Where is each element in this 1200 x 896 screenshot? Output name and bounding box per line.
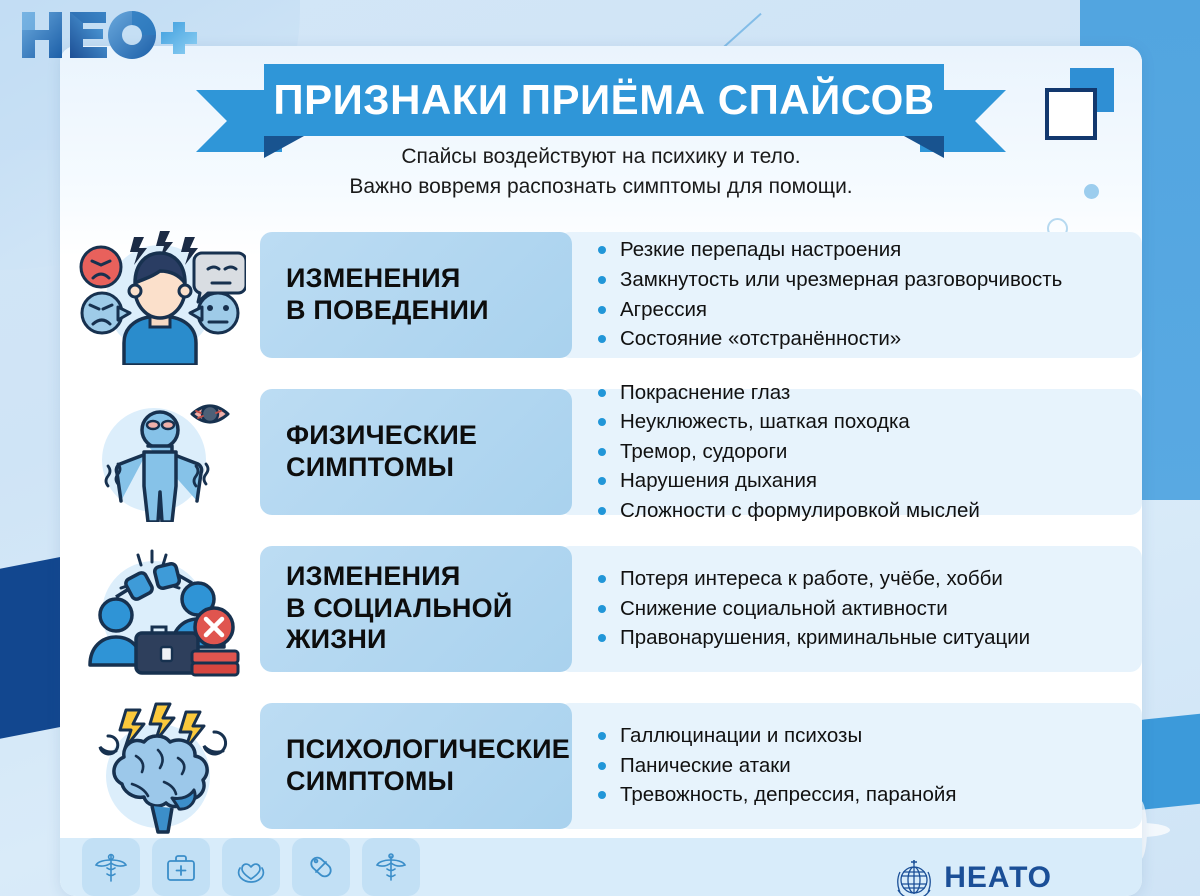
section-title-panel: ИЗМЕНЕНИЯ В ПОВЕДЕНИИ xyxy=(260,232,572,358)
list-item: Состояние «отстранённости» xyxy=(598,324,1122,354)
list-item: Неуклюжесть, шаткая походка xyxy=(598,407,1122,437)
section-items-panel: Резкие перепады настроения Замкнутость и… xyxy=(558,232,1142,358)
section-social-life-changes: ИЗМЕНЕНИЯ В СОЦИАЛЬНОЙ ЖИЗНИ Потеря инте… xyxy=(60,536,1142,681)
angry-person-mood-swings-icon xyxy=(60,225,260,365)
section-body: ФИЗИЧЕСКИЕ СИМПТОМЫ Покраснение глаз Неу… xyxy=(260,389,1142,515)
subtitle-line-2: Важно вовремя распознать симптомы для по… xyxy=(60,172,1142,202)
capsule-pill-icon xyxy=(292,838,350,896)
section-title: ПСИХОЛОГИЧЕСКИЕ СИМПТОМЫ xyxy=(286,734,570,798)
list-item: Замкнутость или чрезмерная разговорчивос… xyxy=(598,265,1122,295)
caduceus-icon xyxy=(82,838,140,896)
list-item: Агрессия xyxy=(598,295,1122,325)
caduceus-wings-icon xyxy=(362,838,420,896)
section-title-panel: ИЗМЕНЕНИЯ В СОЦИАЛЬНОЙ ЖИЗНИ xyxy=(260,546,572,672)
section-title: ФИЗИЧЕСКИЕ СИМПТОМЫ xyxy=(286,420,477,484)
section-psychological-symptoms: ПСИХОЛОГИЧЕСКИЕ СИМПТОМЫ Галлюцинации и … xyxy=(60,693,1142,838)
list-item: Снижение социальной активности xyxy=(598,594,1122,624)
section-body: ИЗМЕНЕНИЯ В ПОВЕДЕНИИ Резкие перепады на… xyxy=(260,232,1142,358)
first-aid-kit-icon xyxy=(152,838,210,896)
who-globe-emblem xyxy=(892,856,936,896)
list-item: Потеря интереса к работе, учёбе, хобби xyxy=(598,564,1122,594)
organization-brand: НЕАТО xyxy=(892,856,1052,896)
section-items-panel: Покраснение глаз Неуклюжесть, шаткая пох… xyxy=(558,389,1142,515)
page-title: ПРИЗНАКИ ПРИЁМА СПАЙСОВ xyxy=(273,76,934,124)
section-title-line-2: СИМПТОМЫ xyxy=(286,766,454,796)
list-item: Резкие перепады настроения xyxy=(598,235,1122,265)
broken-social-connection-icon xyxy=(60,539,260,679)
infographic-card: ПРИЗНАКИ ПРИЁМА СПАЙСОВ Спайсы воздейств… xyxy=(60,46,1142,896)
organization-name: НЕАТО xyxy=(944,861,1052,895)
section-title-line-3: ЖИЗНИ xyxy=(286,624,387,654)
section-title: ИЗМЕНЕНИЯ В ПОВЕДЕНИИ xyxy=(286,263,489,327)
section-items-panel: Потеря интереса к работе, учёбе, хобби С… xyxy=(558,546,1142,672)
trembling-body-red-eye-icon xyxy=(60,382,260,522)
list-item: Нарушения дыхания xyxy=(598,466,1122,496)
sections-list: ИЗМЕНЕНИЯ В ПОВЕДЕНИИ Резкие перепады на… xyxy=(60,222,1142,850)
decor-square-outline xyxy=(1045,88,1097,140)
ribbon-banner: ПРИЗНАКИ ПРИЁМА СПАЙСОВ xyxy=(264,64,944,136)
section-title-line-1: ИЗМЕНЕНИЯ xyxy=(286,263,460,293)
section-body: ПСИХОЛОГИЧЕСКИЕ СИМПТОМЫ Галлюцинации и … xyxy=(260,703,1142,829)
brain-lightning-icon xyxy=(60,696,260,836)
list-item: Тремор, судороги xyxy=(598,437,1122,467)
section-title-line-1: ФИЗИЧЕСКИЕ xyxy=(286,420,477,450)
section-body: ИЗМЕНЕНИЯ В СОЦИАЛЬНОЙ ЖИЗНИ Потеря инте… xyxy=(260,546,1142,672)
list-item: Панические атаки xyxy=(598,751,1122,781)
section-title-panel: ПСИХОЛОГИЧЕСКИЕ СИМПТОМЫ xyxy=(260,703,572,829)
section-title-line-2: В СОЦИАЛЬНОЙ xyxy=(286,593,512,623)
section-behavior-changes: ИЗМЕНЕНИЯ В ПОВЕДЕНИИ Резкие перепады на… xyxy=(60,222,1142,367)
section-title-line-1: ПСИХОЛОГИЧЕСКИЕ xyxy=(286,734,570,764)
footer-icon-row xyxy=(60,838,420,896)
section-items-panel: Галлюцинации и психозы Панические атаки … xyxy=(558,703,1142,829)
list-item: Тревожность, депрессия, паранойя xyxy=(598,780,1122,810)
neo-plus-logo xyxy=(18,8,198,64)
list-item: Галлюцинации и психозы xyxy=(598,721,1122,751)
section-physical-symptoms: ФИЗИЧЕСКИЕ СИМПТОМЫ Покраснение глаз Неу… xyxy=(60,379,1142,524)
heart-in-hands-icon xyxy=(222,838,280,896)
section-title-panel: ФИЗИЧЕСКИЕ СИМПТОМЫ xyxy=(260,389,572,515)
title-ribbon: ПРИЗНАКИ ПРИЁМА СПАЙСОВ xyxy=(196,64,1006,144)
list-item: Сложности с формулировкой мыслей xyxy=(598,496,1122,526)
section-title-line-2: В ПОВЕДЕНИИ xyxy=(286,295,489,325)
footer-bar: НЕАТО xyxy=(60,838,1142,896)
section-title-line-1: ИЗМЕНЕНИЯ xyxy=(286,561,460,591)
section-title: ИЗМЕНЕНИЯ В СОЦИАЛЬНОЙ ЖИЗНИ xyxy=(286,561,512,657)
section-title-line-2: СИМПТОМЫ xyxy=(286,452,454,482)
list-item: Правонарушения, криминальные ситуации xyxy=(598,623,1122,653)
list-item: Покраснение глаз xyxy=(598,378,1122,408)
